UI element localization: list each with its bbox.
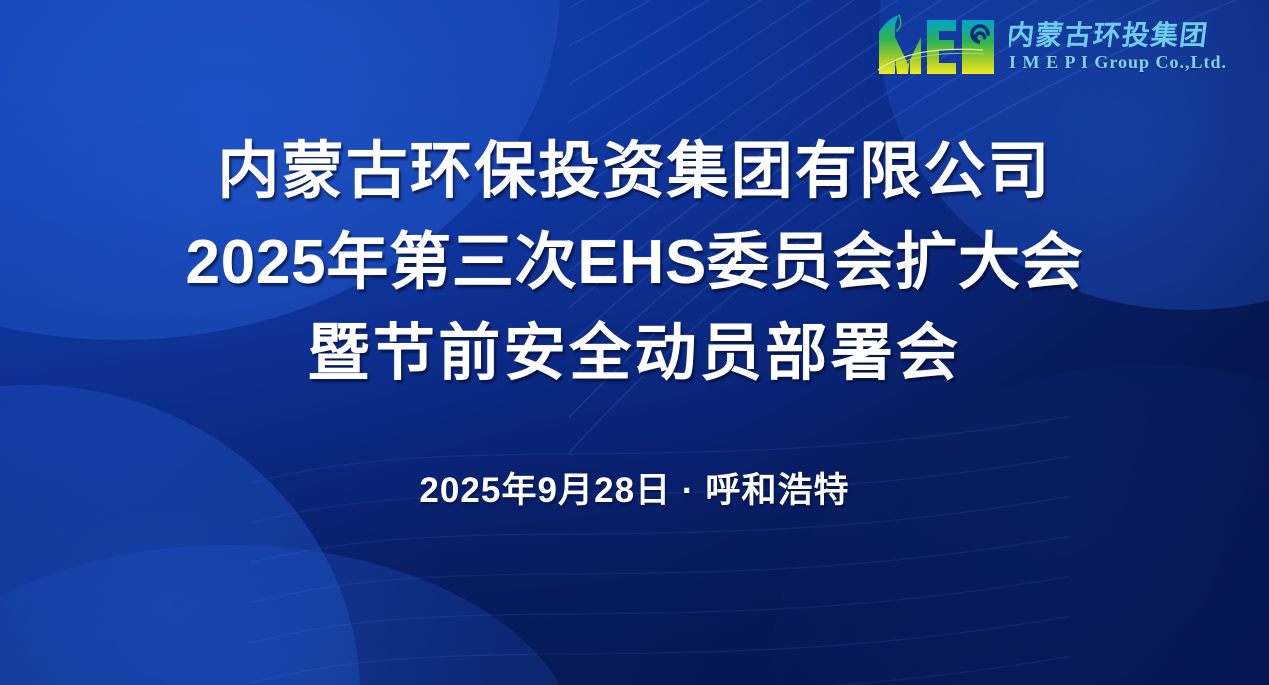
title-line-2: 2025年第三次EHS委员会扩大会	[185, 231, 1083, 294]
date-location-line: 2025年9月28日 · 呼和浩特	[419, 462, 849, 513]
conference-banner: 内蒙古环投集团 I M E P I Group Co.,Ltd. 内蒙古环保投资…	[0, 0, 1269, 685]
banner-content: 内蒙古环保投资集团有限公司 2025年第三次EHS委员会扩大会 暨节前安全动员部…	[0, 0, 1269, 685]
title-line-3: 暨节前安全动员部署会	[307, 322, 961, 385]
title-block: 内蒙古环保投资集团有限公司 2025年第三次EHS委员会扩大会 暨节前安全动员部…	[0, 140, 1269, 386]
title-line-1: 内蒙古环保投资集团有限公司	[217, 140, 1051, 203]
